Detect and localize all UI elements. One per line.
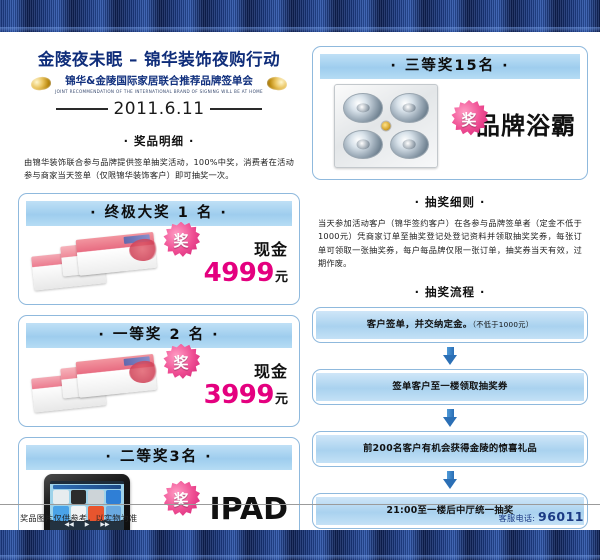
arrow-down-icon [443, 347, 458, 365]
gold-ornament-icon [266, 76, 288, 92]
prize-card-first: · 一等奖 2 名 · 奖 现金 3999元 [18, 315, 300, 427]
left-column: 金陵夜未眠 – 锦华装饰夜购行动 锦华&金陵国际家居联合推荐品牌签单会 JOIN… [18, 32, 300, 557]
rule-right [210, 108, 262, 110]
flow-step-3: 前200名客户有机会获得金陵的惊喜礼品 [312, 431, 588, 467]
bottom-banner [0, 530, 600, 560]
page-subtitle: 锦华&金陵国际家居联合推荐品牌签单会 [55, 73, 263, 88]
heater-lamp-icon [390, 130, 430, 160]
app-icon [106, 490, 122, 505]
flow-step-1-note: （不低于1000元） [472, 320, 533, 329]
prize-body-first: 奖 现金 3999元 [26, 348, 292, 420]
cash-number-grand: 4999 [204, 258, 274, 288]
phone-label: 客服电话: [499, 513, 536, 523]
subtitle-row: 锦华&金陵国际家居联合推荐品牌签单会 JOINT RECOMMENDATION … [18, 73, 300, 94]
event-date-row: 2011.6.11 [18, 99, 300, 119]
poster-content: 金陵夜未眠 – 锦华装饰夜购行动 锦华&金陵国际家居联合推荐品牌签单会 JOIN… [0, 32, 600, 530]
page-subtitle-english: JOINT RECOMMENDATION OF THE INTERNATIONA… [55, 89, 263, 94]
arrow-down-icon [443, 409, 458, 427]
prize-body-third: 奖 品牌浴霸 [320, 79, 580, 173]
lottery-rules-heading: · 抽奖细则 · [312, 194, 588, 210]
flow-step-2-text: 签单客户至一楼领取抽奖券 [392, 381, 507, 392]
prize-caption-first: 奖 现金 3999元 [180, 358, 292, 410]
heater-lamp-icon [343, 93, 383, 123]
heater-center-knob [381, 121, 392, 132]
flow-step-2-inner: 签单客户至一楼领取抽奖券 [316, 373, 584, 401]
bath-heater-image [334, 84, 438, 168]
prize-detail-intro: 由锦华装饰联合参与品牌提供签单抽奖活动，100%中奖，消费者在活动参与商家当天签… [18, 156, 300, 183]
flow-arrow-3 [312, 471, 588, 489]
heater-lamp-icon [343, 130, 383, 160]
prize-body-grand: 奖 现金 4999元 [26, 226, 292, 298]
flow-step-1: 客户签单，并交纳定金。（不低于1000元） [312, 307, 588, 343]
ipad-status-bar [53, 485, 121, 489]
footer-disclaimer: 奖品图片仅供参考，以实物为准 [20, 512, 137, 524]
flow-step-3-text: 前200名客户有机会获得金陵的惊喜礼品 [363, 443, 537, 454]
top-banner [0, 0, 600, 32]
footer-bar: 奖品图片仅供参考，以实物为准 客服电话: 96011 [0, 504, 600, 530]
flow-step-1-inner: 客户签单，并交纳定金。（不低于1000元） [316, 311, 584, 339]
cash-unit-grand: 元 [275, 270, 288, 285]
app-icon [88, 490, 104, 505]
flow-step-1-text: 客户签单，并交纳定金。 [367, 319, 473, 330]
cash-amount-first: 3999元 [180, 380, 288, 410]
cash-number-first: 3999 [204, 380, 274, 410]
cash-bundle-layer [76, 353, 157, 397]
lottery-rules-text: 当天参加活动客户（锦华签约客户）在各参与品牌签单者（定金不低于1000元）凭商家… [312, 217, 588, 270]
prize-caption-grand: 奖 现金 4999元 [180, 236, 292, 288]
phone-number: 96011 [538, 509, 584, 524]
cash-unit-first: 元 [275, 392, 288, 407]
app-icon [71, 490, 87, 505]
cash-amount-grand: 4999元 [180, 258, 288, 288]
prize-bar-third: · 三等奖15名 · [320, 54, 580, 79]
arrow-down-icon [443, 471, 458, 489]
rule-left [56, 108, 108, 110]
flow-arrow-1 [312, 347, 588, 365]
flow-arrow-2 [312, 409, 588, 427]
page-title: 金陵夜未眠 – 锦华装饰夜购行动 [18, 46, 300, 70]
prize-card-third: · 三等奖15名 · 奖 品牌浴霸 [312, 46, 588, 180]
gold-ornament-icon [30, 76, 52, 92]
cash-bundle-image [29, 349, 162, 418]
subtitle-text-group: 锦华&金陵国际家居联合推荐品牌签单会 JOINT RECOMMENDATION … [55, 73, 263, 94]
poster-root: 金陵夜未眠 – 锦华装饰夜购行动 锦华&金陵国际家居联合推荐品牌签单会 JOIN… [0, 0, 600, 560]
right-column: · 三等奖15名 · 奖 品牌浴霸 · 抽奖细则 · 当天 [312, 32, 588, 560]
customer-service-phone: 客服电话: 96011 [499, 509, 584, 524]
flow-step-2: 签单客户至一楼领取抽奖券 [312, 369, 588, 405]
banner-sheen [0, 555, 600, 560]
prize-bar-grand: · 终极大奖 1 名 · [26, 201, 292, 226]
prize-detail-heading: · 奖品明细 · [18, 133, 300, 149]
lottery-flow-heading: · 抽奖流程 · [312, 284, 588, 300]
flow-step-3-inner: 前200名客户有机会获得金陵的惊喜礼品 [316, 435, 584, 463]
prize-bar-first: · 一等奖 2 名 · [26, 323, 292, 348]
prize-bar-second: · 二等奖3名 · [26, 445, 292, 470]
app-icon [53, 490, 69, 505]
cash-bundle-image [29, 227, 162, 296]
heater-lamp-icon [390, 93, 430, 123]
prize-caption-third: 奖 品牌浴霸 [468, 114, 580, 138]
event-date: 2011.6.11 [113, 99, 204, 119]
prize-card-grand: · 终极大奖 1 名 · 奖 现金 4999元 [18, 193, 300, 305]
cash-bundle-layer [76, 231, 157, 275]
